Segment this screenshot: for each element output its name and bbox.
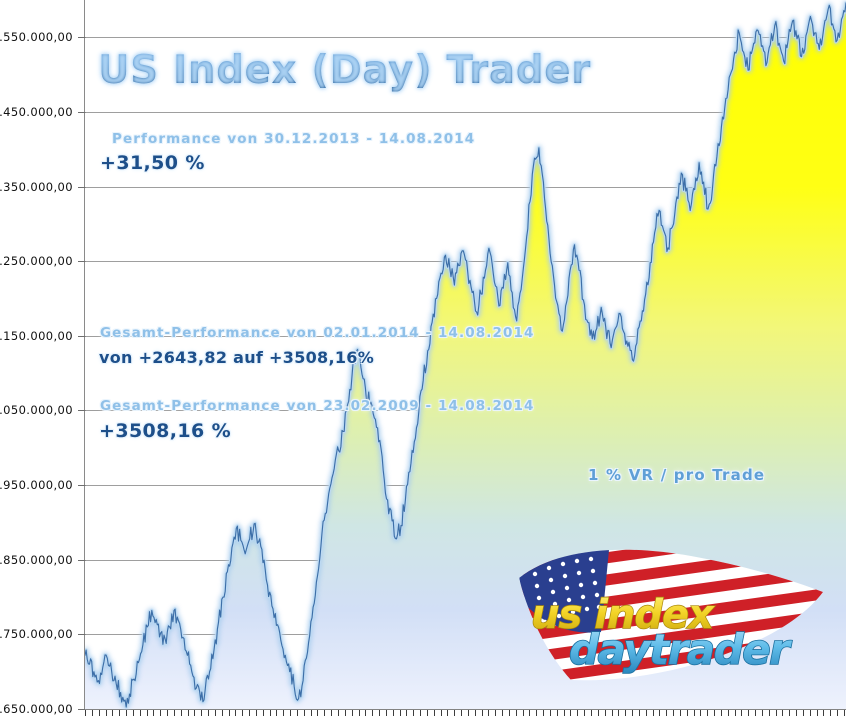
x-tick [153,710,154,716]
x-tick [454,710,455,716]
x-tick [297,710,298,716]
x-tick [365,710,366,716]
x-tick [215,710,216,716]
x-tick [523,710,524,716]
x-tick [194,710,195,716]
x-tick [447,710,448,716]
logo-word-daytrader: daytrader [569,625,792,674]
x-tick [557,710,558,716]
x-tick [99,710,100,716]
x-tick [694,710,695,716]
x-tick [769,710,770,716]
y-tick-label: 3.250.000,00 [0,254,73,268]
x-tick [529,710,530,716]
x-tick [789,710,790,716]
x-tick [577,710,578,716]
x-tick [502,710,503,716]
x-tick [468,710,469,716]
x-tick [290,710,291,716]
x-tick [536,710,537,716]
x-tick [324,710,325,716]
x-tick [92,710,93,716]
x-tick [605,710,606,716]
x-tick [242,710,243,716]
x-tick [393,710,394,716]
us-index-daytrader-logo: us index daytrader [505,540,835,690]
x-tick [352,710,353,716]
x-tick [174,710,175,716]
x-tick [817,710,818,716]
x-axis-ticks [85,710,846,717]
x-tick [735,710,736,716]
us-flag-icon: us index daytrader [505,540,835,690]
x-tick [311,710,312,716]
x-tick [687,710,688,716]
chart-screenshot: 3.550.000,003.450.000,003.350.000,003.25… [0,0,846,717]
x-tick [844,710,845,716]
x-tick [488,710,489,716]
x-tick [249,710,250,716]
x-tick [509,710,510,716]
x-tick [495,710,496,716]
x-tick [837,710,838,716]
x-tick [406,710,407,716]
x-tick [823,710,824,716]
x-tick [338,710,339,716]
x-tick [762,710,763,716]
x-tick [372,710,373,716]
x-tick [140,710,141,716]
x-tick [345,710,346,716]
x-tick [782,710,783,716]
x-tick [201,710,202,716]
x-tick [810,710,811,716]
x-tick [741,710,742,716]
x-tick [707,710,708,716]
x-tick [700,710,701,716]
x-tick [632,710,633,716]
y-tick-label: 3.050.000,00 [0,403,73,417]
y-tick-label: 3.150.000,00 [0,329,73,343]
x-tick [434,710,435,716]
x-tick [112,710,113,716]
x-tick [420,710,421,716]
x-tick [119,710,120,716]
x-tick [256,710,257,716]
y-tick-label: 3.450.000,00 [0,105,73,119]
x-tick [270,710,271,716]
x-tick [359,710,360,716]
x-tick [591,710,592,716]
x-tick [160,710,161,716]
y-tick-label: 2.850.000,00 [0,553,73,567]
x-tick [85,710,86,716]
x-tick [475,710,476,716]
x-tick [639,710,640,716]
x-tick [680,710,681,716]
x-tick [427,710,428,716]
x-tick [728,710,729,716]
x-tick [830,710,831,716]
x-tick [666,710,667,716]
x-tick [133,710,134,716]
x-tick [283,710,284,716]
x-tick [331,710,332,716]
x-tick [584,710,585,716]
x-tick [714,710,715,716]
x-tick [570,710,571,716]
x-tick [229,710,230,716]
x-tick [673,710,674,716]
x-tick [618,710,619,716]
y-tick-label: 2.950.000,00 [0,478,73,492]
x-tick [386,710,387,716]
x-tick [106,710,107,716]
x-tick [482,710,483,716]
x-tick [147,710,148,716]
x-tick [516,710,517,716]
y-tick-label: 3.350.000,00 [0,180,73,194]
x-tick [653,710,654,716]
y-tick-label: 2.650.000,00 [0,702,73,716]
x-tick [564,710,565,716]
x-tick [379,710,380,716]
x-tick [803,710,804,716]
x-tick [235,710,236,716]
x-tick [721,710,722,716]
x-tick [263,710,264,716]
x-tick [317,710,318,716]
x-tick [612,710,613,716]
x-tick [598,710,599,716]
x-tick [167,710,168,716]
x-tick [181,710,182,716]
x-tick [659,710,660,716]
x-tick [413,710,414,716]
x-tick [188,710,189,716]
y-tick-label: 2.750.000,00 [0,627,73,641]
x-tick [304,710,305,716]
y-tick-label: 3.550.000,00 [0,30,73,44]
x-tick [441,710,442,716]
x-tick [126,710,127,716]
x-tick [646,710,647,716]
x-tick [550,710,551,716]
x-tick [543,710,544,716]
x-tick [222,710,223,716]
x-tick [625,710,626,716]
x-tick [755,710,756,716]
x-tick [400,710,401,716]
x-tick [748,710,749,716]
x-tick [276,710,277,716]
x-tick [461,710,462,716]
x-tick [796,710,797,716]
x-tick [208,710,209,716]
x-tick [776,710,777,716]
